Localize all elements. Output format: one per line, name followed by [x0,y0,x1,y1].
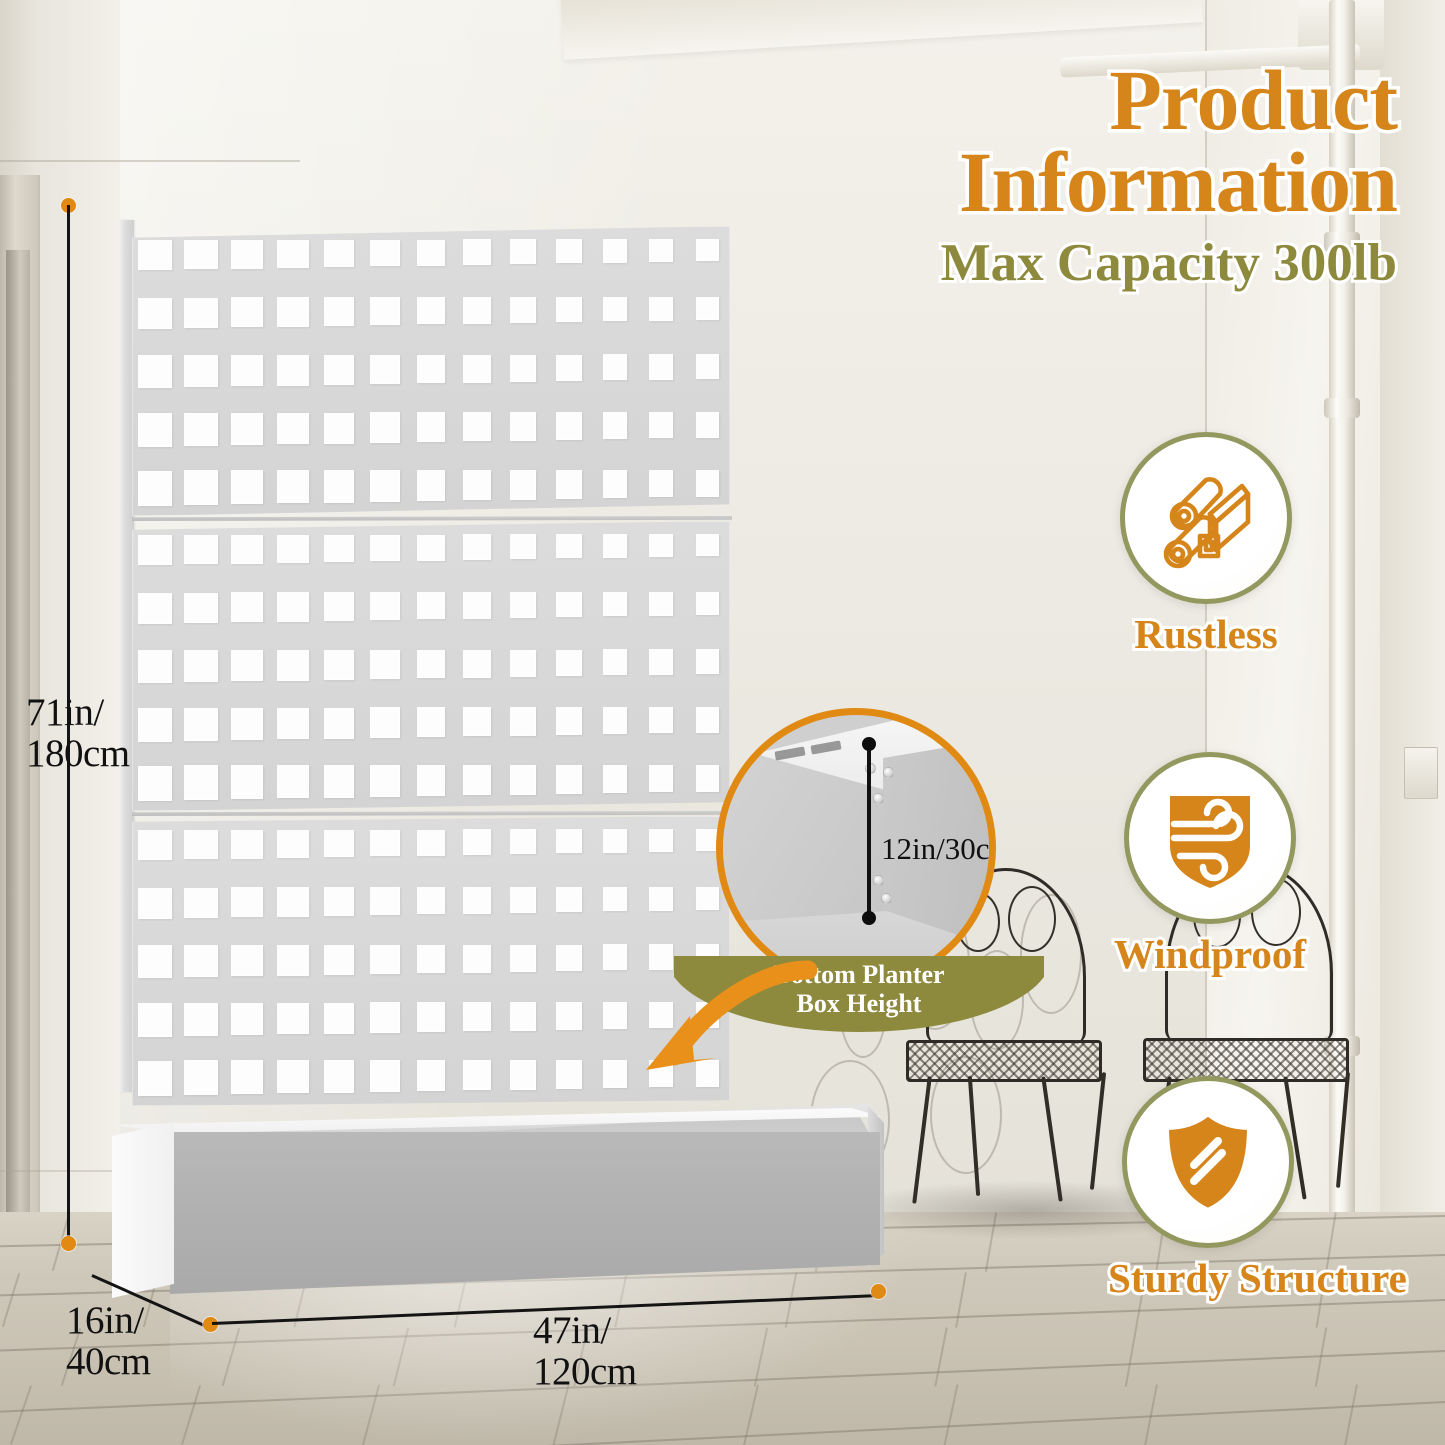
screw-icon [881,893,892,904]
callout-dimension-label: 12in/30cm [881,831,996,867]
screw-icon [883,767,894,778]
planter-box-height-callout: 12in/30cm Bottom Planter Box Height [716,708,996,988]
feature-windproof: Windproof [1110,752,1310,975]
depth-dimension-label: 16in/ 40cm [66,1300,151,1383]
windproof-badge [1124,752,1296,924]
feature-label: Windproof [1110,934,1310,975]
sturdy-structure-badge [1122,1076,1294,1248]
width-dimension-label: 47in/ 120cm [533,1310,637,1393]
lumber-stack-icon [1154,466,1258,570]
feature-rustless: Rustless [1106,432,1306,655]
callout-circle: 12in/30cm [716,708,996,988]
downspout-joint [1324,398,1360,418]
callout-pointer-arrow [612,952,822,1112]
dimension-marker-dot [871,1284,886,1299]
dimension-marker-dot [61,1236,76,1251]
page-title-line1: Product [757,60,1397,142]
rustless-badge [1120,432,1292,604]
screw-icon [873,875,884,886]
page-title-line2: Information [757,142,1397,224]
callout-dimension-line [867,743,871,918]
feature-label: Rustless [1106,614,1306,655]
wall-seam [0,1170,210,1172]
feature-label: Sturdy Structure [1108,1258,1308,1299]
page-subtitle: Max Capacity 300lb [757,237,1397,290]
dimension-endpoint [862,737,876,751]
dimension-endpoint [862,911,876,925]
feature-sturdy-structure: Sturdy Structure [1108,1076,1308,1299]
wind-shield-icon [1158,784,1262,892]
shield-icon [1156,1107,1260,1217]
wall-outlet [1404,747,1438,799]
infographic-canvas: 71in/ 180cm 16in/ 40cm 47in/ 120cm 12in [0,0,1445,1445]
wall-seam [0,160,300,162]
screw-icon [873,793,884,804]
header-title-block: Product Information Max Capacity 300lb [757,60,1397,290]
height-dimension-label: 71in/ 180cm [26,692,130,775]
